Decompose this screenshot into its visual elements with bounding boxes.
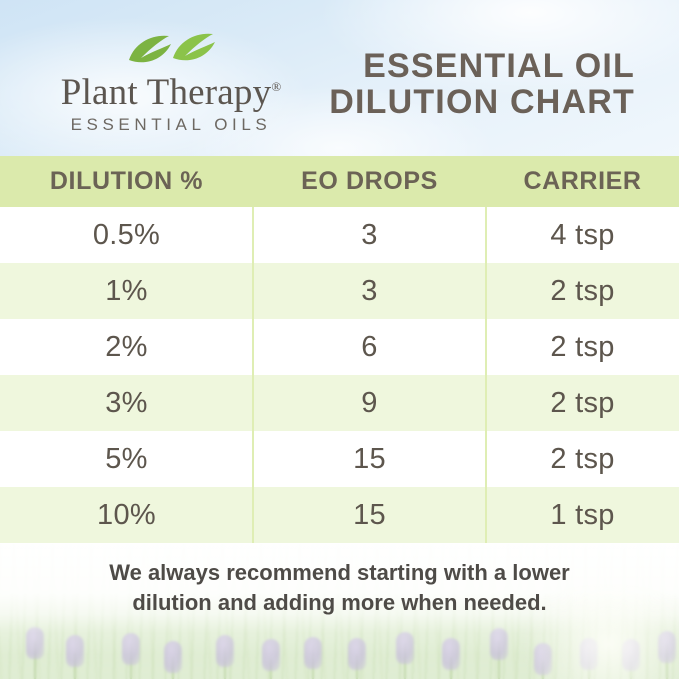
cell-dilution: 0.5% (0, 219, 253, 252)
registered-mark: ® (271, 79, 281, 94)
cell-drops: 3 (253, 275, 486, 308)
cell-drops: 15 (253, 499, 486, 532)
table-row: 10% 15 1 tsp (0, 487, 679, 543)
cell-dilution: 5% (0, 443, 253, 476)
table-row: 3% 9 2 tsp (0, 375, 679, 431)
note-line-1: We always recommend starting with a lowe… (109, 560, 570, 585)
note-line-2: dilution and adding more when needed. (0, 588, 679, 618)
cell-carrier: 2 tsp (486, 331, 679, 364)
header-banner: Plant Therapy® ESSENTIAL OILS ESSENTIAL … (0, 0, 679, 156)
page-title: ESSENTIAL OIL DILUTION CHART (329, 48, 635, 120)
cell-carrier: 1 tsp (486, 499, 679, 532)
column-header-dilution: DILUTION % (0, 167, 253, 196)
column-header-drops: EO DROPS (253, 167, 486, 196)
title-line-2: DILUTION CHART (329, 84, 635, 120)
cell-dilution: 10% (0, 499, 253, 532)
brand-name-text: Plant Therapy (61, 72, 272, 113)
cell-carrier: 4 tsp (486, 219, 679, 252)
cell-dilution: 1% (0, 275, 253, 308)
recommendation-note: We always recommend starting with a lowe… (0, 558, 679, 618)
cell-carrier: 2 tsp (486, 443, 679, 476)
brand-logo: Plant Therapy® ESSENTIAL OILS (40, 30, 302, 135)
cell-dilution: 3% (0, 387, 253, 420)
dilution-table: DILUTION % EO DROPS CARRIER 0.5% 3 4 tsp… (0, 156, 679, 543)
cell-carrier: 2 tsp (486, 275, 679, 308)
cell-dilution: 2% (0, 331, 253, 364)
table-row: 2% 6 2 tsp (0, 319, 679, 375)
cell-drops: 3 (253, 219, 486, 252)
cell-carrier: 2 tsp (486, 387, 679, 420)
cell-drops: 6 (253, 331, 486, 364)
two-leaves-icon (123, 30, 219, 72)
brand-name: Plant Therapy® (40, 74, 302, 111)
title-line-1: ESSENTIAL OIL (329, 48, 635, 84)
table-header-row: DILUTION % EO DROPS CARRIER (0, 156, 679, 207)
cell-drops: 9 (253, 387, 486, 420)
table-row: 5% 15 2 tsp (0, 431, 679, 487)
cell-drops: 15 (253, 443, 486, 476)
footer-area: We always recommend starting with a lowe… (0, 544, 679, 679)
dilution-chart-page: Plant Therapy® ESSENTIAL OILS ESSENTIAL … (0, 0, 679, 679)
column-header-carrier: CARRIER (486, 167, 679, 196)
table-row: 0.5% 3 4 tsp (0, 207, 679, 263)
table-row: 1% 3 2 tsp (0, 263, 679, 319)
brand-subtitle: ESSENTIAL OILS (40, 115, 302, 135)
